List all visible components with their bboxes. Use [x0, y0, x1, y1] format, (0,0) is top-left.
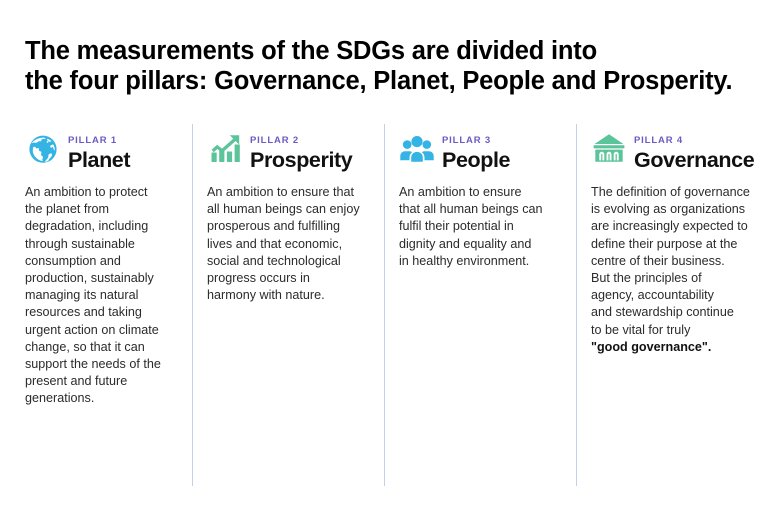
pillar-header: PILLAR 3 People — [399, 129, 563, 173]
description-line: An ambition to ensure that — [207, 184, 371, 201]
description-line: harmony with nature. — [207, 287, 371, 304]
description-line: lives and that economic, — [207, 236, 371, 253]
description-line: urgent action on climate — [25, 322, 179, 339]
pillar-title-block: PILLAR 3 People — [442, 129, 563, 173]
description-line: is evolving as organizations — [591, 201, 755, 218]
pillar-header: PILLAR 2 Prosperity — [207, 129, 371, 173]
description-line: resources and taking — [25, 304, 179, 321]
description-line: change, so that it can — [25, 339, 179, 356]
description-line: fulfil their potential in — [399, 218, 563, 235]
description-line: present and future — [25, 373, 179, 390]
page-title-line-1: The measurements of the SDGs are divided… — [25, 36, 735, 66]
description-line: that all human beings can — [399, 201, 563, 218]
description-line: generations. — [25, 390, 179, 407]
pillar-column-prosperity: PILLAR 2 Prosperity An ambition to ensur… — [192, 124, 384, 486]
pillar-name: Governance — [634, 148, 754, 172]
description-line: are increasingly expected to — [591, 218, 755, 235]
page-title-line-2: the four pillars: Governance, Planet, Pe… — [25, 66, 735, 96]
pillar-kicker: PILLAR 4 — [634, 135, 683, 146]
description-line: An ambition to ensure — [399, 184, 563, 201]
description-line: to be vital for truly — [591, 322, 755, 339]
description-line: in healthy environment. — [399, 253, 563, 270]
pillar-kicker: PILLAR 3 — [442, 135, 491, 146]
pillar-columns: PILLAR 1 Planet An ambition to protect t… — [0, 124, 768, 486]
description-line: through sustainable — [25, 236, 179, 253]
pillar-column-people: PILLAR 3 People An ambition to ensure th… — [384, 124, 576, 486]
description-line: prosperous and fulfilling — [207, 218, 371, 235]
description-line: the planet from — [25, 201, 179, 218]
description-line: degradation, including — [25, 218, 179, 235]
description-line: agency, accountability — [591, 287, 755, 304]
globe-icon — [25, 130, 61, 166]
description-line: all human beings can enjoy — [207, 201, 371, 218]
infographic-page: The measurements of the SDGs are divided… — [0, 0, 768, 512]
description-line: The definition of governance — [591, 184, 755, 201]
description-line: dignity and equality and — [399, 236, 563, 253]
description-line: production, sustainably — [25, 270, 179, 287]
pillar-column-governance: PILLAR 4 Governance The definition of go… — [576, 124, 768, 486]
pillar-kicker: PILLAR 2 — [250, 135, 299, 146]
description-line: progress occurs in — [207, 270, 371, 287]
pillar-title-block: PILLAR 2 Prosperity — [250, 129, 371, 173]
pillar-name: People — [442, 148, 510, 172]
description-line: centre of their business. — [591, 253, 755, 270]
growth-chart-icon — [207, 130, 243, 166]
description-line: and stewardship continue — [591, 304, 755, 321]
pillar-description: An ambition to ensure that all human bei… — [399, 184, 563, 270]
institution-building-icon — [591, 130, 627, 166]
pillar-description: An ambition to ensure that all human bei… — [207, 184, 371, 304]
pillar-header: PILLAR 4 Governance — [591, 129, 755, 173]
description-line: consumption and — [25, 253, 179, 270]
pillar-kicker: PILLAR 1 — [68, 135, 117, 146]
pillar-name: Planet — [68, 148, 130, 172]
pillar-column-planet: PILLAR 1 Planet An ambition to protect t… — [0, 124, 192, 486]
description-line: social and technological — [207, 253, 371, 270]
page-title: The measurements of the SDGs are divided… — [25, 36, 735, 96]
pillar-description: The definition of governance is evolving… — [591, 184, 755, 356]
pillar-title-block: PILLAR 4 Governance — [634, 129, 755, 173]
description-line: support the needs of the — [25, 356, 179, 373]
description-line: managing its natural — [25, 287, 179, 304]
description-line: define their purpose at the — [591, 236, 755, 253]
people-group-icon — [399, 130, 435, 166]
description-line: But the principles of — [591, 270, 755, 287]
description-line: An ambition to protect — [25, 184, 179, 201]
pillar-header: PILLAR 1 Planet — [25, 129, 179, 173]
description-line: "good governance". — [591, 339, 755, 356]
pillar-name: Prosperity — [250, 148, 352, 172]
pillar-title-block: PILLAR 1 Planet — [68, 129, 179, 173]
pillar-description: An ambition to protect the planet from d… — [25, 184, 179, 408]
